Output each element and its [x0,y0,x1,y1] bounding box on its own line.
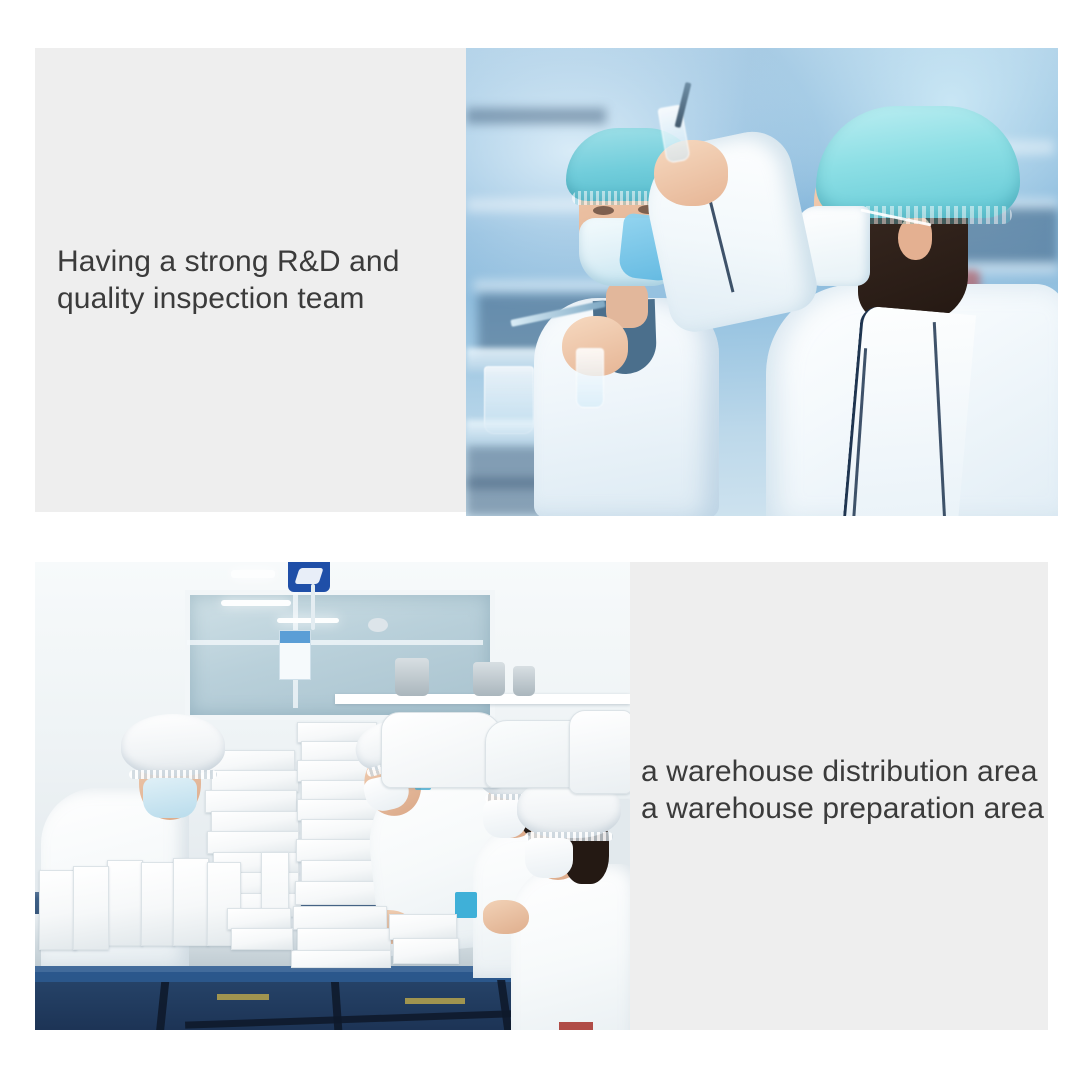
warehouse-caption: a warehouse distribution area a warehous… [641,753,1044,827]
box [173,858,209,946]
box [393,938,459,964]
box [207,831,299,854]
packing-wrap-sheet-3 [569,710,630,794]
packing-scene-backdrop [35,562,630,1030]
box [227,908,291,930]
packing-ceiling-light-1 [231,570,275,578]
packing-pot-3 [513,666,535,696]
packing-notice-board [279,630,311,680]
lab-worker-a-eye-left [593,206,614,215]
lab-vial-lower [576,348,604,408]
lab-bg-shelf-1 [466,198,586,212]
warehouse-caption-line-1: a warehouse distribution area [641,753,1044,790]
packing-worker-1-hairnet [121,714,225,776]
lab-bg-rail [466,108,606,124]
packing-blue-sign [288,562,330,592]
rnd-caption-line-1: Having a strong R&D and [57,243,399,280]
packing-worker-4-coat [511,864,630,1030]
box [205,790,297,813]
box [141,862,175,946]
rnd-caption-line-2: quality inspection team [57,280,399,317]
box [107,860,143,946]
packing-pot-2 [473,662,505,696]
box [211,811,299,833]
packing-window-bar-h [187,640,483,645]
packing-pot-1 [395,658,429,696]
box [291,950,391,968]
packing-worker-4-hand [483,900,529,934]
packing-floor-marking-2 [405,998,465,1004]
box [297,928,391,952]
packing-wall-clock [368,618,388,632]
packing-worker-1-mask [143,778,197,818]
box [73,866,109,950]
rnd-caption: Having a strong R&D and quality inspecti… [57,243,399,317]
packing-worker-4-mask [525,838,573,878]
warehouse-packing-photo [35,562,630,1030]
lab-rnd-photo [466,48,1058,516]
packing-ceiling-light-3 [277,618,339,623]
box [295,881,383,905]
packing-worker-4-trim [559,1022,593,1030]
box [389,914,457,940]
warehouse-caption-line-2: a warehouse preparation area [641,790,1044,827]
packing-floor-marking-1 [217,994,269,1000]
packing-hanging-strip [311,584,315,630]
packing-worker-4-item [455,892,477,918]
banner-canvas: Having a strong R&D and quality inspecti… [0,0,1080,1080]
lab-scene-backdrop [466,48,1058,516]
box [231,928,293,950]
box [293,906,387,930]
packing-ceiling-light-2 [221,600,291,606]
box [39,870,77,950]
lab-worker-b-lapel [843,305,976,516]
box [211,770,299,792]
lab-worker-b-hairnet [816,106,1020,218]
